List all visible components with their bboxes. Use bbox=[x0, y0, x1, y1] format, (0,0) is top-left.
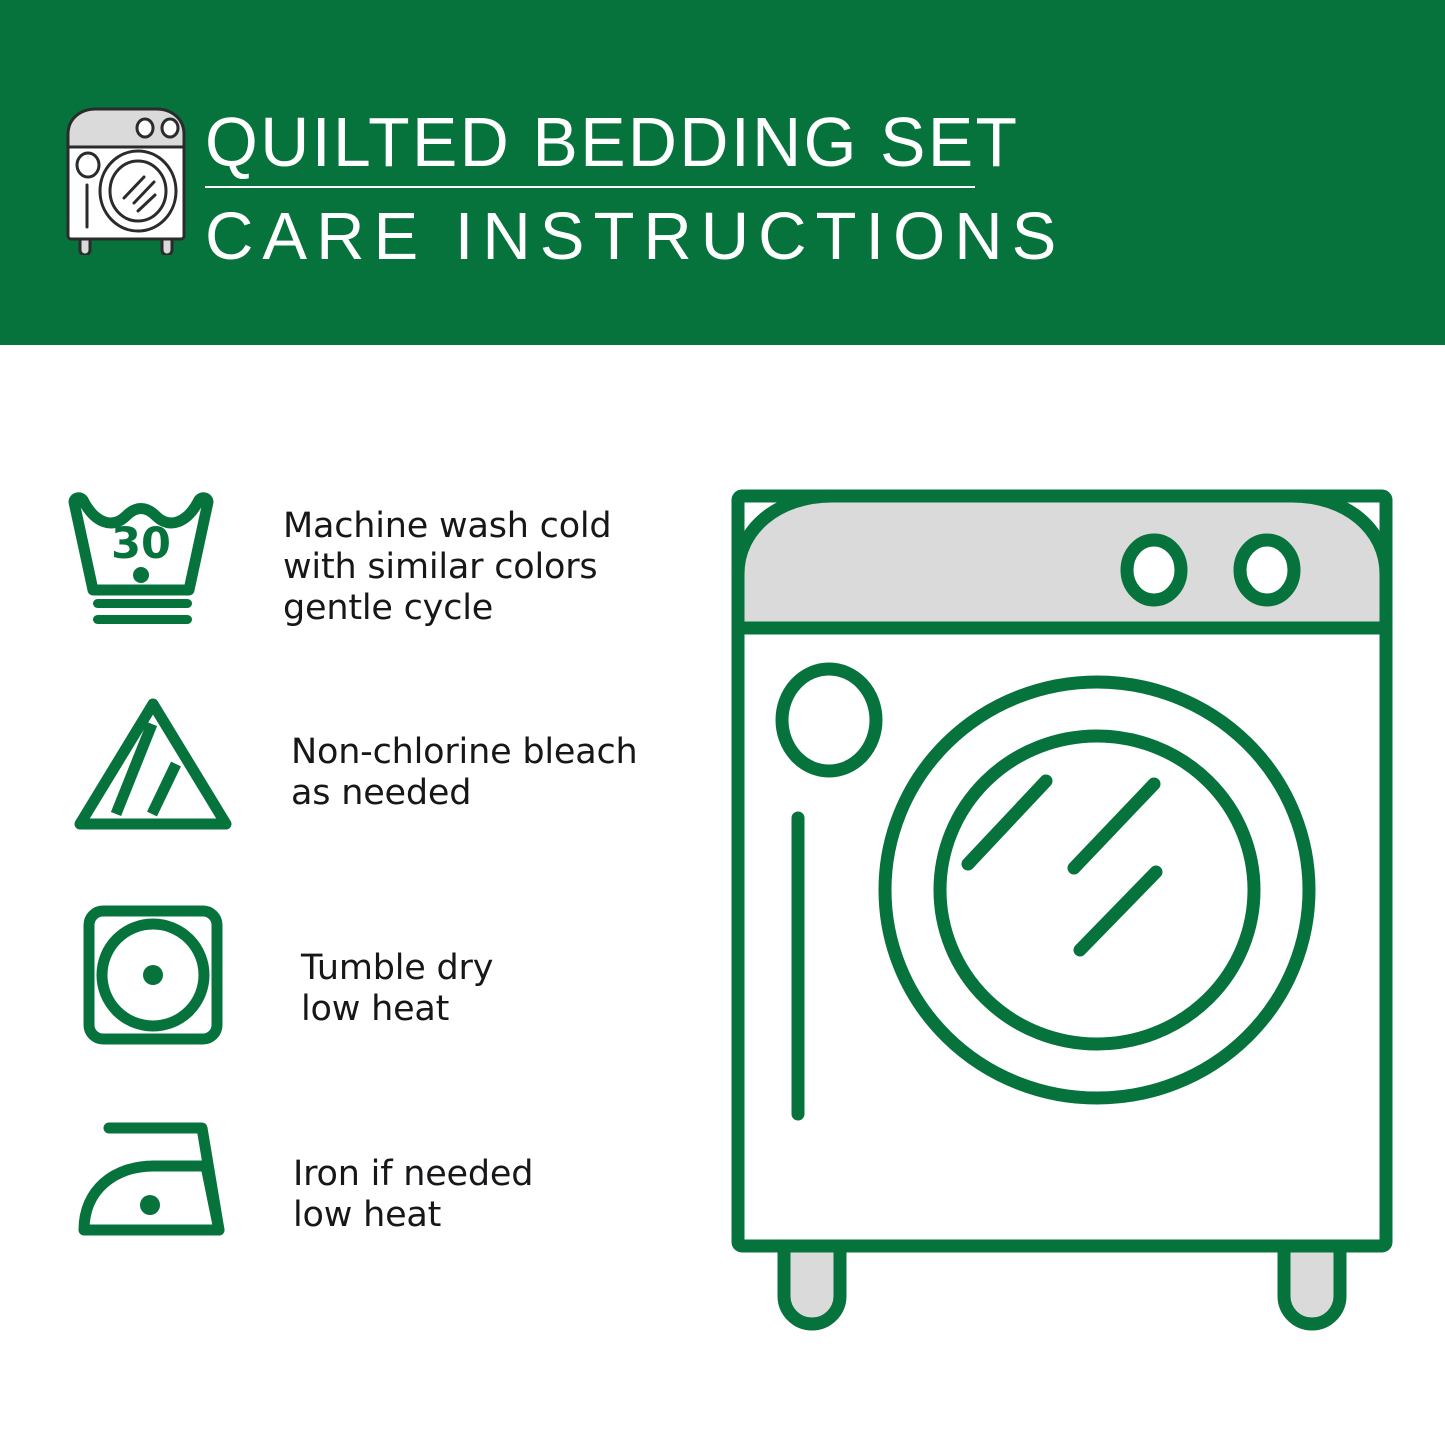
care-label-line: Machine wash cold bbox=[283, 506, 700, 547]
detergent-port bbox=[782, 669, 876, 771]
care-row-machine-wash: 30 Machine wash cold with similar colors… bbox=[60, 480, 700, 690]
tumble-dry-low-heat-icon bbox=[60, 900, 263, 1075]
header-text-block: QUILTED BEDDING SET CARE INSTRUCTIONS bbox=[205, 104, 995, 273]
wash-temperature-value: 30 bbox=[111, 519, 171, 569]
care-label-line: gentle cycle bbox=[283, 588, 700, 629]
page-subtitle: CARE INSTRUCTIONS bbox=[205, 201, 995, 273]
care-label-line: as needed bbox=[291, 773, 700, 814]
care-label-line: low heat bbox=[293, 1195, 700, 1236]
care-label-line: with similar colors bbox=[283, 547, 700, 588]
care-label-tumble-dry: Tumble dry low heat bbox=[263, 900, 700, 1030]
control-knob-left bbox=[1127, 540, 1181, 600]
drum-inner-ring bbox=[940, 736, 1254, 1044]
care-row-tumble-dry: Tumble dry low heat bbox=[60, 900, 700, 1110]
wash-tub-30-gentle-icon: 30 bbox=[60, 480, 245, 655]
care-label-line: Non-chlorine bleach bbox=[291, 732, 700, 773]
care-label-machine-wash: Machine wash cold with similar colors ge… bbox=[245, 480, 700, 629]
leg-left bbox=[784, 1246, 840, 1324]
care-label-bleach: Non-chlorine bleach as needed bbox=[253, 690, 700, 814]
care-label-line: Tumble dry bbox=[301, 948, 700, 989]
triangle-non-chlorine-bleach-icon bbox=[60, 690, 253, 865]
care-instruction-list: 30 Machine wash cold with similar colors… bbox=[60, 480, 700, 1320]
care-label-iron: Iron if needed low heat bbox=[255, 1110, 700, 1236]
washing-machine-icon bbox=[62, 103, 190, 255]
page-title: QUILTED BEDDING SET bbox=[205, 104, 971, 180]
leg-right bbox=[1284, 1246, 1340, 1324]
header-band: QUILTED BEDDING SET CARE INSTRUCTIONS bbox=[0, 0, 1445, 345]
care-row-bleach: Non-chlorine bleach as needed bbox=[60, 690, 700, 900]
title-divider bbox=[205, 186, 975, 188]
care-label-line: Iron if needed bbox=[293, 1154, 700, 1195]
control-knob-right bbox=[1240, 540, 1294, 600]
care-row-iron: Iron if needed low heat bbox=[60, 1110, 700, 1320]
front-load-washing-machine-illustration bbox=[722, 478, 1402, 1358]
iron-low-heat-icon bbox=[60, 1110, 255, 1285]
care-instructions-infographic: QUILTED BEDDING SET CARE INSTRUCTIONS 30 bbox=[0, 0, 1445, 1445]
care-label-line: low heat bbox=[301, 989, 700, 1030]
